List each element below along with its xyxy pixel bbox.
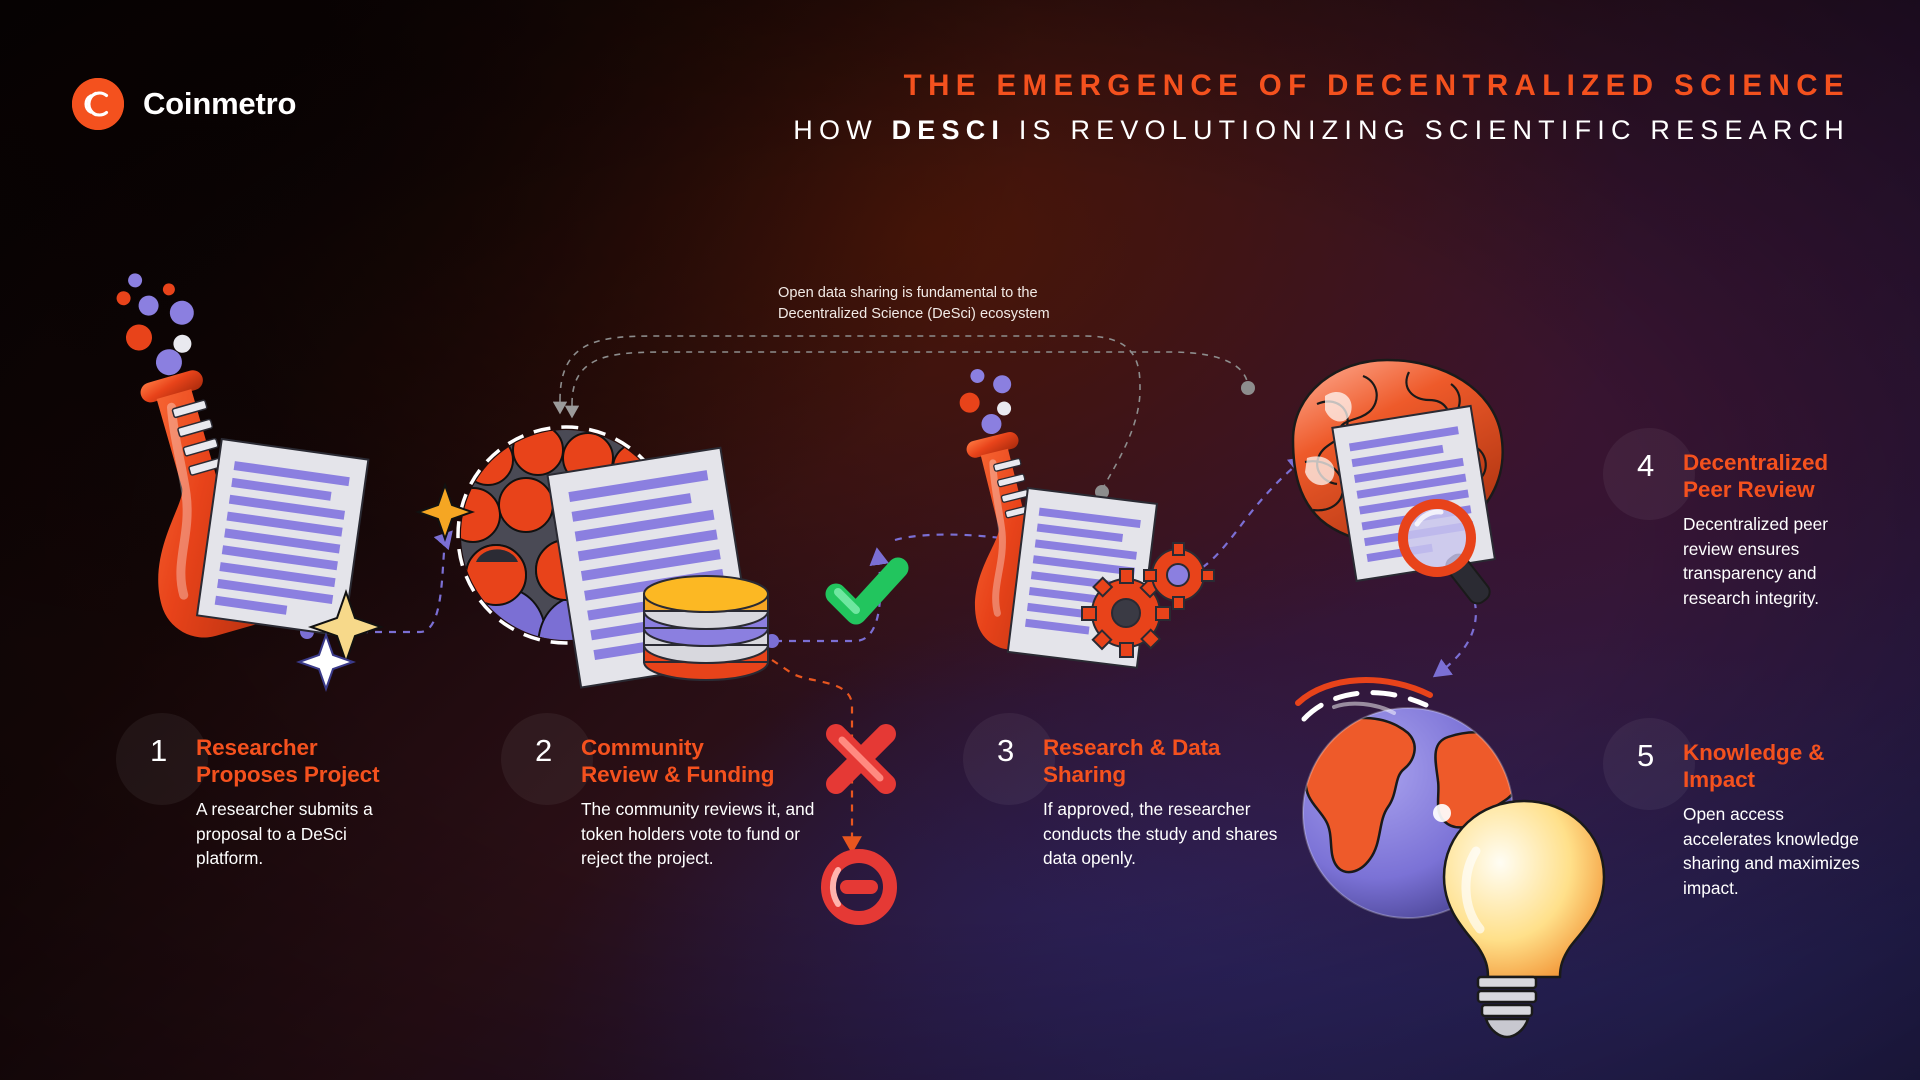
step-5-number: 5 bbox=[1637, 740, 1683, 773]
step-4-description: Decentralized peer review ensures transp… bbox=[1683, 512, 1868, 610]
step-1-number: 1 bbox=[150, 735, 196, 768]
subtitle-post: IS REVOLUTIONIZING SCIENTIFIC RESEARCH bbox=[1005, 115, 1850, 145]
step-4-title: Decentralized Peer Review bbox=[1683, 450, 1852, 503]
step-1[interactable]: 1 Researcher Proposes Project A research… bbox=[150, 735, 390, 871]
brain-magnifier-icon bbox=[1245, 330, 1555, 620]
red-cross-icon bbox=[824, 722, 898, 796]
step-4-number: 4 bbox=[1637, 450, 1683, 483]
subtitle-pre: HOW bbox=[793, 115, 891, 145]
coinmetro-c-icon bbox=[72, 78, 124, 130]
step-5-head: 5 Knowledge & Impact bbox=[1637, 740, 1852, 793]
step-3[interactable]: 3 Research & Data Sharing If approved, t… bbox=[997, 735, 1242, 871]
brand-name: Coinmetro bbox=[143, 86, 296, 122]
step-2-description: The community reviews it, and token hold… bbox=[581, 797, 816, 871]
red-no-entry-icon bbox=[820, 848, 898, 926]
step-3-number: 3 bbox=[997, 735, 1043, 768]
step-4[interactable]: 4 Decentralized Peer Review Decentralize… bbox=[1637, 450, 1852, 610]
step-2-title: Community Review & Funding bbox=[581, 735, 785, 788]
brand-logo[interactable]: Coinmetro bbox=[72, 78, 296, 130]
step-5-title: Knowledge & Impact bbox=[1683, 740, 1852, 793]
step-2-number: 2 bbox=[535, 735, 581, 768]
flask-gears-icon bbox=[930, 405, 1230, 705]
step-5-description: Open access accelerates knowledge sharin… bbox=[1683, 802, 1863, 900]
subtitle-bold: DESCI bbox=[892, 115, 1006, 145]
step-1-title: Researcher Proposes Project bbox=[196, 735, 390, 788]
callout-open-data: Open data sharing is fundamental to the … bbox=[778, 283, 1078, 325]
globe-lightbulb-icon bbox=[1290, 655, 1590, 1015]
flask-document-icon bbox=[95, 330, 405, 700]
page-title: THE EMERGENCE OF DECENTRALIZED SCIENCE bbox=[793, 68, 1850, 105]
step-3-title: Research & Data Sharing bbox=[1043, 735, 1242, 788]
page-subtitle: HOW DESCI IS REVOLUTIONIZING SCIENTIFIC … bbox=[793, 113, 1850, 148]
step-4-head: 4 Decentralized Peer Review bbox=[1637, 450, 1852, 503]
step-1-description: A researcher submits a proposal to a DeS… bbox=[196, 797, 401, 871]
step-5[interactable]: 5 Knowledge & Impact Open access acceler… bbox=[1637, 740, 1852, 900]
step-2-head: 2 Community Review & Funding bbox=[535, 735, 785, 788]
community-coins-icon bbox=[448, 410, 788, 730]
step-3-description: If approved, the researcher conducts the… bbox=[1043, 797, 1278, 871]
header-titles: THE EMERGENCE OF DECENTRALIZED SCIENCE H… bbox=[793, 68, 1850, 148]
step-3-head: 3 Research & Data Sharing bbox=[997, 735, 1242, 788]
step-2[interactable]: 2 Community Review & Funding The communi… bbox=[535, 735, 785, 871]
green-check-icon bbox=[828, 562, 908, 628]
step-1-head: 1 Researcher Proposes Project bbox=[150, 735, 390, 788]
